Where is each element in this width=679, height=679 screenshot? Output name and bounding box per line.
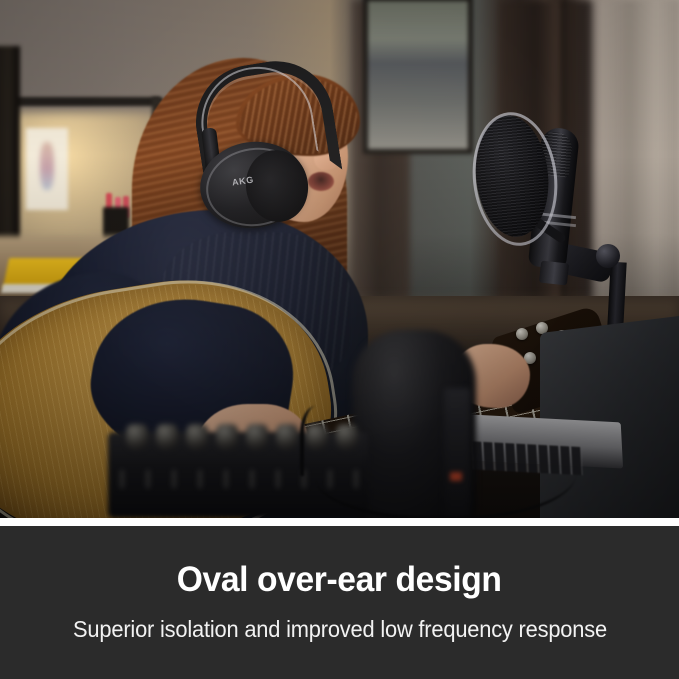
caption-title: Oval over-ear design: [177, 561, 502, 600]
mixer-knob: [246, 424, 268, 450]
mouth: [308, 172, 334, 191]
mixer-knob: [126, 424, 148, 450]
product-feature-card: AKG: [0, 0, 679, 679]
caption-subtitle: Superior isolation and improved low freq…: [73, 616, 607, 644]
caption-panel: Oval over-ear design Superior isolation …: [0, 526, 679, 679]
audio-cable-segment: [300, 406, 340, 476]
audio-cable: [314, 423, 578, 518]
xlr-connector: [539, 261, 569, 286]
desk-lamp-body: [0, 46, 20, 246]
framed-artwork: [363, 0, 473, 154]
desk-lamp-arm: [10, 97, 162, 106]
mixer-knob: [186, 424, 208, 450]
mic-stand-adjust-knob: [596, 244, 620, 268]
product-lifestyle-photo: AKG: [0, 0, 679, 518]
tuning-peg: [516, 328, 528, 340]
mixer-knob: [156, 424, 178, 450]
mixer-knob: [216, 424, 238, 450]
mixer-knob: [276, 424, 298, 450]
artwork-canvas: [368, 1, 468, 149]
framed-sketch: [26, 128, 68, 210]
panel-divider: [0, 518, 679, 526]
